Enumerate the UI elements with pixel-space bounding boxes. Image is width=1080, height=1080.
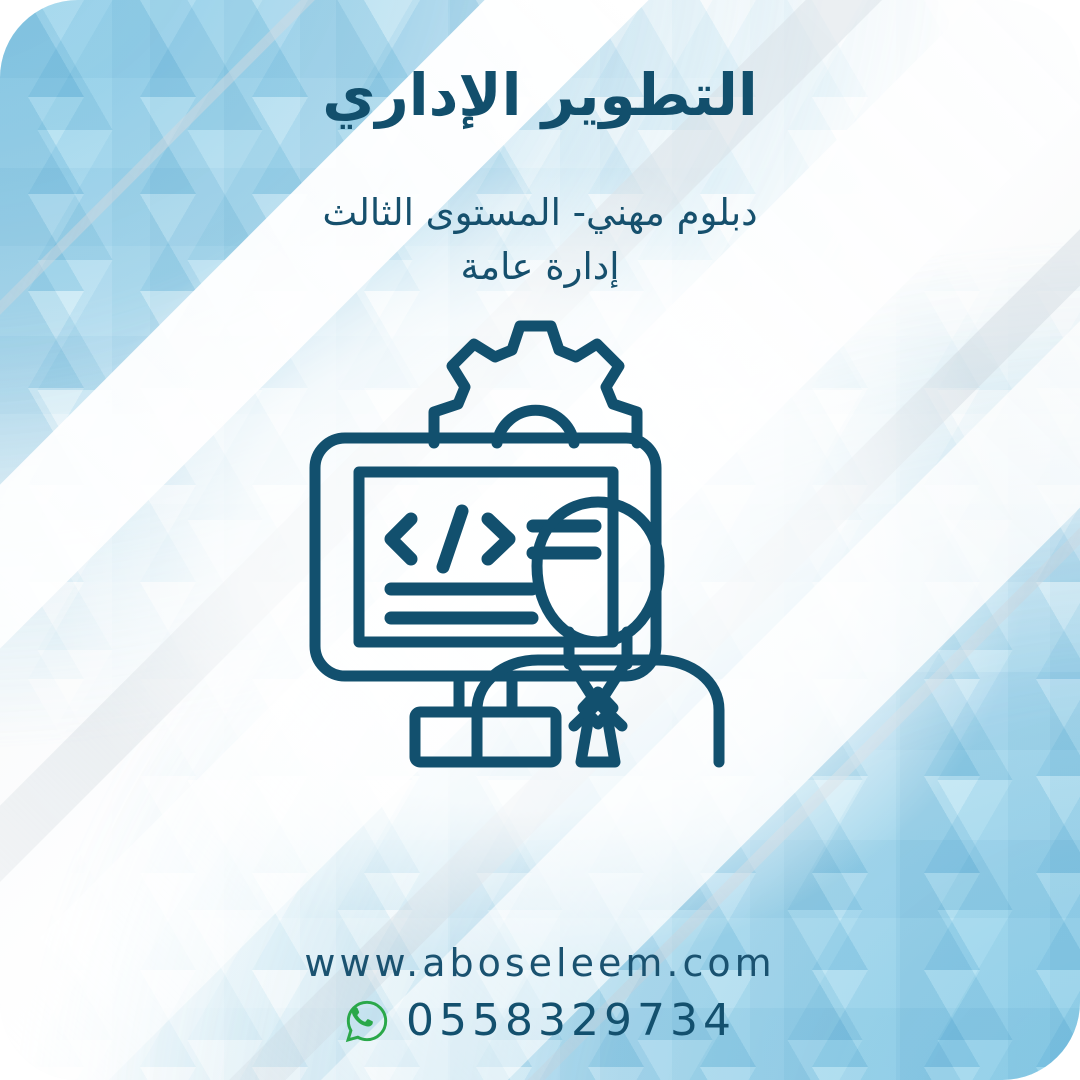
gear-icon — [434, 326, 637, 443]
phone-number[interactable]: 0558329734 — [406, 995, 736, 1046]
poster-content: التطوير الإداري دبلوم مهني- المستوى الثا… — [0, 0, 1080, 1080]
subtitle-line-1: دبلوم مهني- المستوى الثالث — [0, 186, 1080, 240]
page-title: التطوير الإداري — [0, 62, 1080, 129]
hero-illustration — [305, 312, 775, 772]
subtitle-block: دبلوم مهني- المستوى الثالث إدارة عامة — [0, 186, 1080, 293]
screen-text-lines-icon — [391, 589, 532, 618]
subtitle-line-2: إدارة عامة — [0, 240, 1080, 294]
footer-contact: www.aboseleem.com 0558329734 — [0, 941, 1080, 1046]
website-link[interactable]: www.aboseleem.com — [0, 941, 1080, 985]
phone-row: 0558329734 — [0, 995, 1080, 1046]
poster-card: التطوير الإداري دبلوم مهني- المستوى الثا… — [0, 0, 1080, 1080]
whatsapp-icon[interactable] — [344, 998, 390, 1044]
code-brackets-icon — [391, 511, 509, 567]
